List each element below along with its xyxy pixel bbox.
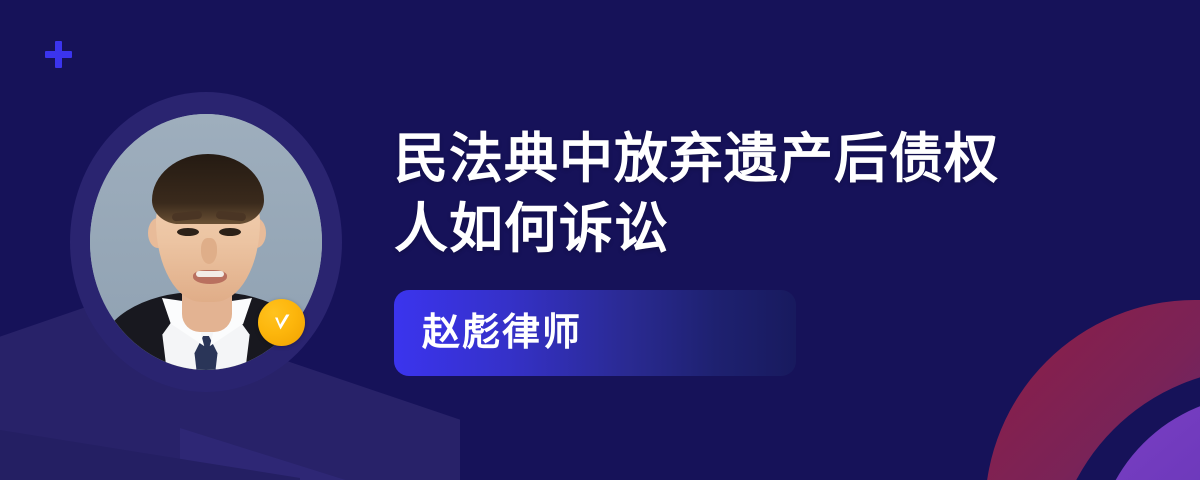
author-name-label: 赵彪律师: [422, 314, 582, 352]
portrait-teeth: [196, 271, 224, 277]
content-block: 民法典中放弃遗产后债权 人如何诉讼 赵彪律师: [394, 124, 1094, 376]
verified-badge-icon: [258, 299, 305, 346]
portrait-nose: [201, 238, 217, 264]
legal-qa-banner: 民法典中放弃遗产后债权 人如何诉讼 赵彪律师: [0, 0, 1200, 480]
portrait-eye-left: [177, 228, 199, 236]
avatar: [70, 92, 342, 392]
portrait-eye-right: [219, 228, 241, 236]
plus-icon: [45, 41, 72, 68]
page-title: 民法典中放弃遗产后债权 人如何诉讼: [394, 124, 1094, 264]
author-badge[interactable]: 赵彪律师: [394, 290, 796, 376]
